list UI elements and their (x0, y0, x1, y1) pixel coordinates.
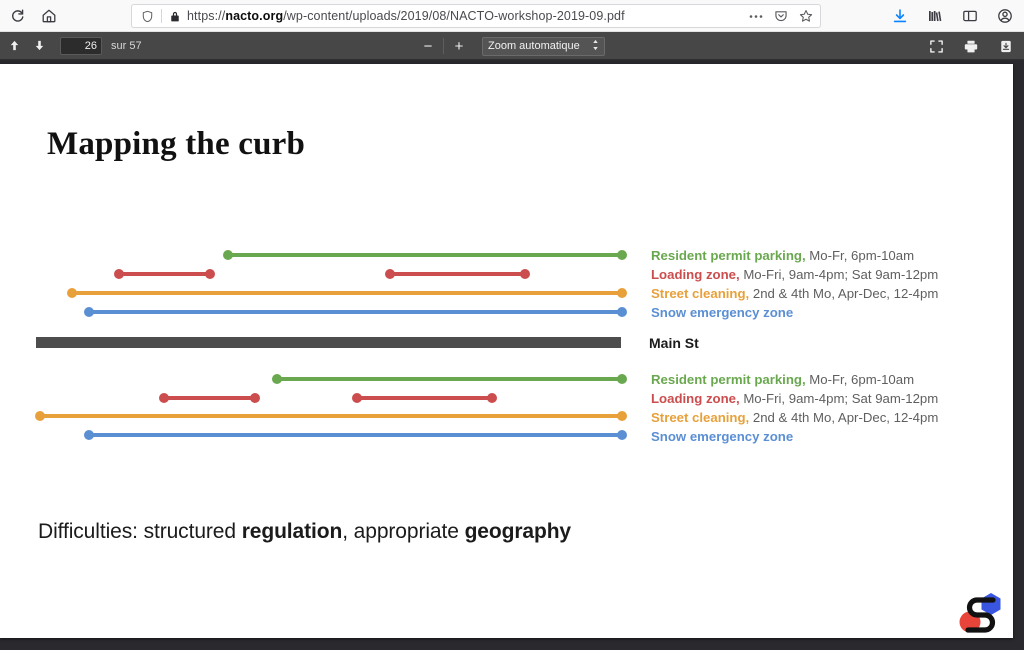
legend-regulation-hours: Mo-Fri, 9am-4pm; Sat 9am-12pm (740, 391, 939, 406)
ellipsis-icon[interactable] (748, 8, 764, 24)
legend-regulation-name: Resident permit parking, (651, 372, 806, 387)
legend-regulation-name: Street cleaning, (651, 286, 749, 301)
navigation-buttons (0, 3, 62, 29)
curb-segment-endpoint (520, 269, 530, 279)
street-label: Main St (649, 335, 699, 351)
curb-segment-endpoint (223, 250, 233, 260)
legend-regulation-name: Loading zone, (651, 267, 740, 282)
legend-regulation-hours: 2nd & 4th Mo, Apr-Dec, 12-4pm (749, 286, 938, 301)
legend-row-snow-emergency-zone: Snow emergency zone (651, 303, 938, 322)
urlbar-actions (748, 8, 814, 24)
curb-segment (164, 396, 255, 400)
legend-row-snow-emergency-zone: Snow emergency zone (651, 427, 938, 446)
pdf-zoom-controls: − + Zoom automatique (418, 32, 605, 60)
curb-segment-endpoint (487, 393, 497, 403)
curb-segment-endpoint (352, 393, 362, 403)
pdf-toolbar-actions (925, 32, 1017, 60)
legend-regulation-hours: Mo-Fr, 6pm-10am (806, 372, 914, 387)
curb-segment-endpoint (84, 307, 94, 317)
printer-icon[interactable] (960, 35, 982, 57)
curb-segment-endpoint (617, 374, 627, 384)
curb-segment (228, 253, 622, 257)
pdf-viewer-toolbar: 26 sur 57 − + Zoom automatique (0, 32, 1024, 60)
bottom-note-middle: , appropriate (342, 520, 464, 543)
curb-segment-endpoint (67, 288, 77, 298)
zoom-in-button[interactable]: + (449, 36, 469, 56)
legend-row-street-cleaning: Street cleaning, 2nd & 4th Mo, Apr-Dec, … (651, 284, 938, 303)
legend-row-loading-zone: Loading zone, Mo-Fri, 9am-4pm; Sat 9am-1… (651, 389, 938, 408)
zoom-level-select[interactable]: Zoom automatique (482, 37, 605, 56)
curb-segment-endpoint (617, 250, 627, 260)
sidebar-panel-icon[interactable] (957, 3, 983, 29)
curb-segment (89, 433, 622, 437)
reload-icon[interactable] (4, 3, 30, 29)
curb-segment-endpoint (250, 393, 260, 403)
address-bar[interactable]: https://nacto.org/wp-content/uploads/201… (131, 4, 821, 28)
curb-segment-endpoint (385, 269, 395, 279)
legend-row-street-cleaning: Street cleaning, 2nd & 4th Mo, Apr-Dec, … (651, 408, 938, 427)
curb-segment-endpoint (617, 288, 627, 298)
legend-regulation-name: Loading zone, (651, 391, 740, 406)
pdf-page-controls: 26 sur 57 (0, 35, 142, 57)
legend-regulation-hours: 2nd & 4th Mo, Apr-Dec, 12-4pm (749, 410, 938, 425)
url-text[interactable]: https://nacto.org/wp-content/uploads/201… (183, 9, 748, 23)
browser-toolbar-actions (887, 0, 1018, 32)
curb-regulation-diagram (0, 64, 1013, 638)
curb-segment-endpoint (272, 374, 282, 384)
presentation-mode-icon[interactable] (925, 35, 947, 57)
padlock-icon[interactable] (167, 8, 183, 24)
bottom-note-prefix: Difficulties: structured (38, 520, 242, 543)
curb-segment (72, 291, 622, 295)
curb-segment (89, 310, 622, 314)
pocket-icon[interactable] (773, 8, 789, 24)
legend-regulation-name: Resident permit parking, (651, 248, 806, 263)
arrow-down-icon[interactable] (28, 35, 50, 57)
chevron-updown-icon (592, 39, 599, 54)
bottom-note-bold-geography: geography (465, 520, 571, 543)
star-icon[interactable] (798, 8, 814, 24)
zoom-level-value: Zoom automatique (488, 40, 580, 52)
page-total-label: sur 57 (111, 40, 142, 52)
pdf-page: Mapping the curb Main St Resident permit… (0, 64, 1013, 638)
curb-segment-endpoint (159, 393, 169, 403)
zoom-divider (443, 38, 444, 54)
curb-segment-endpoint (617, 307, 627, 317)
account-avatar-icon[interactable] (992, 3, 1018, 29)
legend-south-side: Resident permit parking, Mo-Fr, 6pm-10am… (651, 370, 938, 446)
legend-regulation-name: Snow emergency zone (651, 429, 793, 444)
browser-toolbar: https://nacto.org/wp-content/uploads/201… (0, 0, 1024, 32)
curb-segment (119, 272, 210, 276)
legend-row-resident-permit-parking: Resident permit parking, Mo-Fr, 6pm-10am (651, 246, 938, 265)
curb-segment (277, 377, 622, 381)
library-books-icon[interactable] (922, 3, 948, 29)
legend-regulation-hours: Mo-Fr, 6pm-10am (806, 248, 914, 263)
curb-segment-endpoint (84, 430, 94, 440)
urlbar-divider (161, 9, 162, 23)
curb-segment (390, 272, 525, 276)
curb-segment-endpoint (617, 411, 627, 421)
bottom-note: Difficulties: structured regulation, app… (38, 520, 571, 544)
legend-regulation-hours: Mo-Fri, 9am-4pm; Sat 9am-12pm (740, 267, 939, 282)
page-number-input[interactable]: 26 (60, 37, 102, 55)
zoom-out-button[interactable]: − (418, 36, 438, 56)
bottom-note-bold-regulation: regulation (242, 520, 343, 543)
arrow-up-icon[interactable] (3, 35, 25, 57)
legend-north-side: Resident permit parking, Mo-Fr, 6pm-10am… (651, 246, 938, 322)
home-icon[interactable] (36, 3, 62, 29)
curb-segment (357, 396, 492, 400)
sharedstreets-logo (955, 587, 1007, 637)
shield-icon[interactable] (138, 7, 156, 25)
curb-segment-endpoint (35, 411, 45, 421)
legend-row-loading-zone: Loading zone, Mo-Fri, 9am-4pm; Sat 9am-1… (651, 265, 938, 284)
street-bar (36, 337, 621, 348)
download-arrow-icon[interactable] (887, 3, 913, 29)
curb-segment (40, 414, 622, 418)
curb-segment-endpoint (617, 430, 627, 440)
curb-segment-endpoint (205, 269, 215, 279)
legend-row-resident-permit-parking: Resident permit parking, Mo-Fr, 6pm-10am (651, 370, 938, 389)
save-document-icon[interactable] (995, 35, 1017, 57)
legend-regulation-name: Street cleaning, (651, 410, 749, 425)
legend-regulation-name: Snow emergency zone (651, 305, 793, 320)
curb-segment-endpoint (114, 269, 124, 279)
